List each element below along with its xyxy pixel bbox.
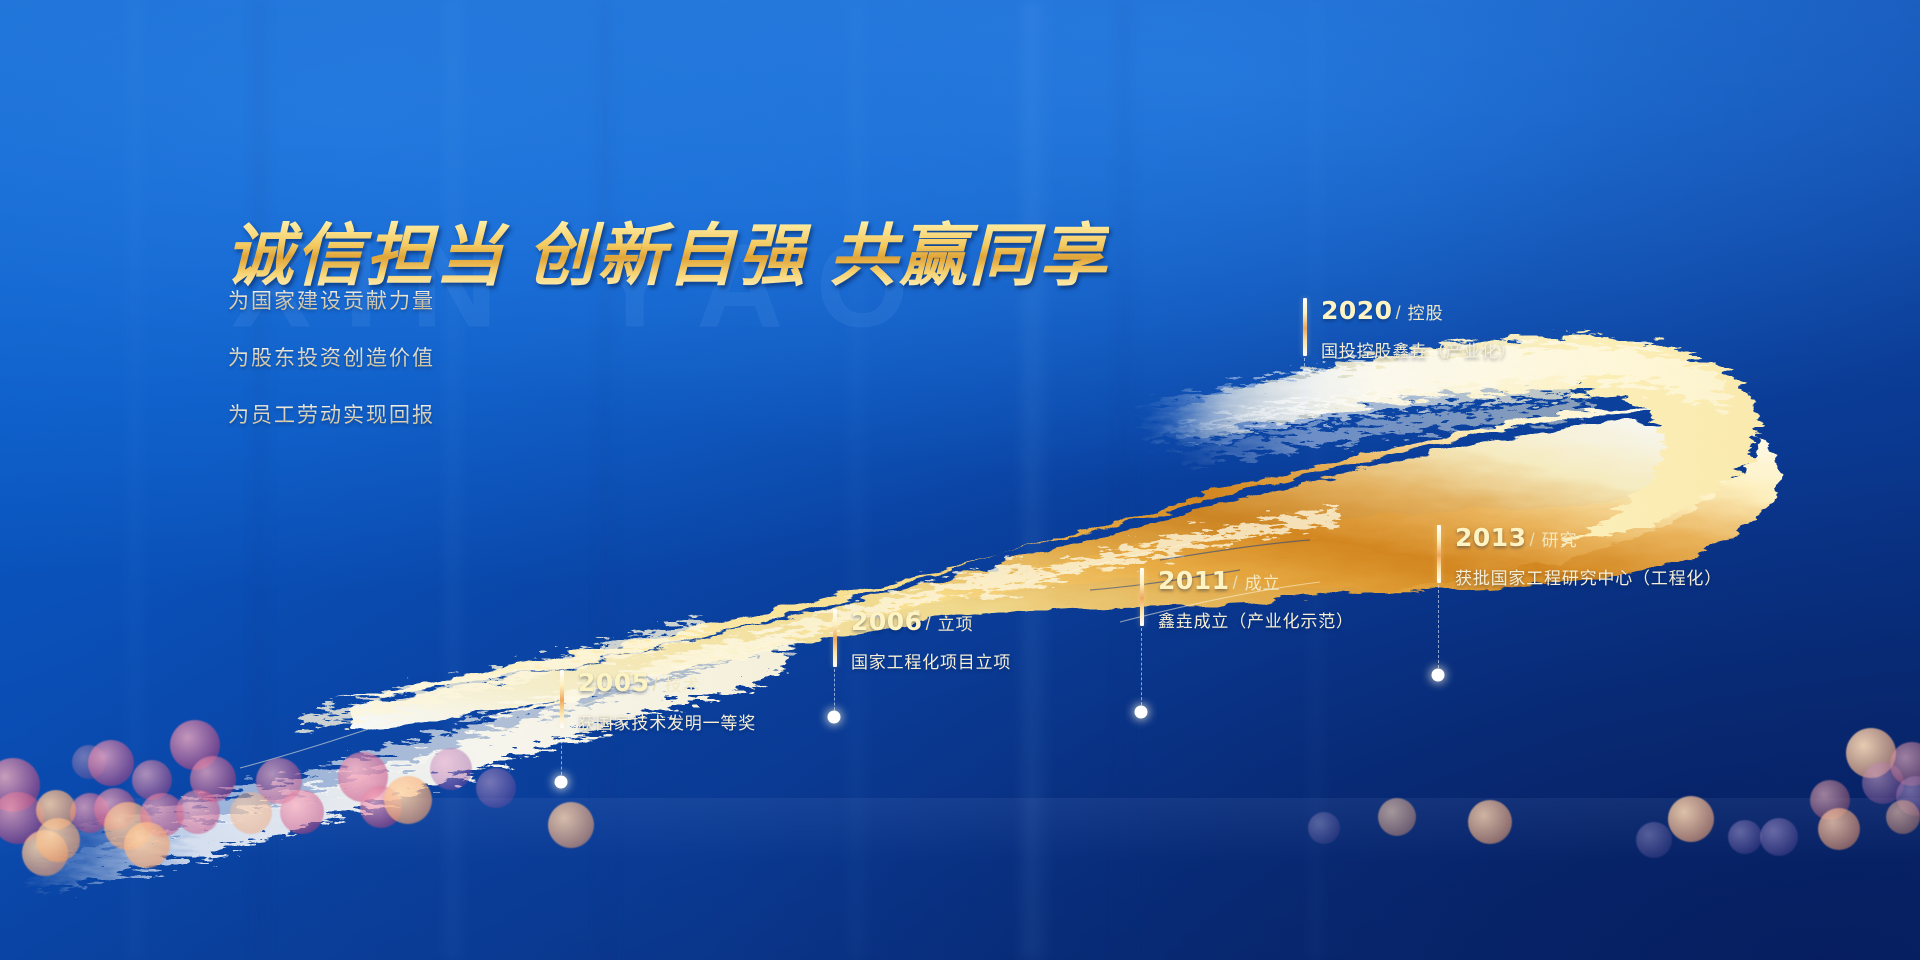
- milestone-connector-line: [1438, 585, 1439, 673]
- bokeh-circle: [1760, 818, 1798, 856]
- bokeh-circle: [1308, 812, 1340, 844]
- milestone-connector-line: [1141, 628, 1142, 710]
- milestone-year: 2005: [578, 668, 650, 697]
- milestone-accent-bar: [1140, 568, 1144, 626]
- subtitle-line: 为国家建设贡献力量: [228, 285, 435, 315]
- bokeh-circle: [1668, 796, 1714, 842]
- milestone-tag: 技术: [665, 676, 701, 696]
- milestone-year: 2006: [851, 607, 923, 636]
- milestone-description: 获国家技术发明一等奖: [578, 709, 756, 734]
- milestone-text: 2006/立项 国家工程化项目立项: [851, 607, 1011, 673]
- milestone-connector-line: [561, 730, 562, 780]
- milestone-separator: /: [926, 614, 931, 634]
- milestone-separator: /: [1530, 530, 1535, 550]
- bokeh-circle: [1886, 800, 1920, 834]
- milestone-tag: 研究: [1542, 531, 1578, 551]
- milestone-accent-bar: [560, 670, 564, 728]
- milestone-accent-bar: [1303, 298, 1307, 356]
- subtitle-line: 为员工劳动实现回报: [228, 399, 435, 429]
- milestone-description: 获批国家工程研究中心（工程化）: [1455, 564, 1722, 589]
- milestone-connector-line: [834, 669, 835, 715]
- bokeh-circle: [230, 792, 272, 834]
- bokeh-circle: [476, 768, 516, 808]
- milestone-dot: [828, 711, 841, 724]
- bokeh-circle: [280, 790, 324, 834]
- milestone-text: 2011/成立 鑫垚成立（产业化示范）: [1158, 566, 1354, 632]
- milestone-separator: /: [1396, 303, 1401, 323]
- title-part-3: 共赢同享: [829, 217, 1109, 296]
- milestone-tag: 成立: [1245, 574, 1281, 594]
- bokeh-circle: [1818, 808, 1860, 850]
- milestone-accent-bar: [1437, 525, 1441, 583]
- milestone-dot: [555, 776, 568, 789]
- bokeh-circle: [1728, 820, 1762, 854]
- milestone-description: 国投控股鑫垚（产业化）: [1321, 337, 1517, 362]
- bokeh-circle: [1468, 800, 1512, 844]
- milestone-separator: /: [653, 675, 658, 695]
- bokeh-circle: [430, 748, 472, 790]
- banner-canvas: XIN YAO 诚信担当创新自强共赢同享 为国家建设贡献力量 为股东投资创造价值…: [0, 0, 1920, 960]
- milestone-tag: 立项: [938, 615, 974, 635]
- milestone-text: 2005/技术 获国家技术发明一等奖: [578, 668, 756, 734]
- subtitle-line: 为股东投资创造价值: [228, 342, 435, 372]
- bokeh-circle: [384, 776, 432, 824]
- bokeh-circle: [176, 790, 220, 834]
- milestone-year: 2020: [1321, 296, 1393, 325]
- milestone-dot: [1135, 706, 1148, 719]
- bokeh-circle: [1636, 822, 1672, 858]
- bokeh-circle: [548, 802, 594, 848]
- milestone-separator: /: [1233, 573, 1238, 593]
- milestone-text: 2013/研究 获批国家工程研究中心（工程化）: [1455, 523, 1722, 589]
- milestone-description: 鑫垚成立（产业化示范）: [1158, 607, 1354, 632]
- milestone-year: 2013: [1455, 523, 1527, 552]
- bokeh-circle: [1378, 798, 1416, 836]
- subtitle-list: 为国家建设贡献力量 为股东投资创造价值 为员工劳动实现回报: [228, 285, 435, 456]
- milestone-accent-bar: [833, 609, 837, 667]
- title-part-2: 创新自强: [527, 217, 807, 296]
- bokeh-circle: [88, 740, 134, 786]
- milestone-tag: 控股: [1408, 304, 1444, 324]
- milestone-connector-line: [1304, 358, 1305, 412]
- milestone-dot: [1432, 669, 1445, 682]
- bokeh-circle: [124, 822, 170, 868]
- milestone-year: 2011: [1158, 566, 1230, 595]
- milestone-description: 国家工程化项目立项: [851, 648, 1011, 673]
- milestone-text: 2020/控股 国投控股鑫垚（产业化）: [1321, 296, 1517, 362]
- bokeh-circle: [36, 818, 80, 862]
